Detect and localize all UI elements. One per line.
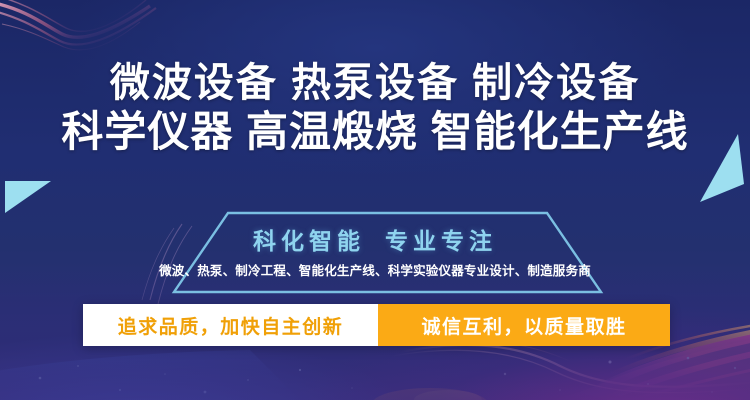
headline-block: 微波设备 热泵设备 制冷设备 科学仪器 高温煅烧 智能化生产线 — [0, 62, 750, 155]
midband-slogan-right: 专业专注 — [385, 228, 497, 254]
slogan-bar-left: 追求品质，加快自主创新 — [83, 304, 378, 346]
slogan-bar-right: 诚信互利，以质量取胜 — [378, 304, 670, 346]
headline-line-2: 科学仪器 高温煅烧 智能化生产线 — [0, 110, 750, 155]
slogan-bar-group: 追求品质，加快自主创新 诚信互利，以质量取胜 — [83, 304, 670, 346]
midband-subtitle: 微波、热泵、制冷工程、智能化生产线、科学实验仪器专业设计、制造服务商 — [0, 260, 750, 279]
midband-slogan: 科化智能专业专注 — [0, 222, 750, 256]
promotional-banner: 微波设备 热泵设备 制冷设备 科学仪器 高温煅烧 智能化生产线 科化智能专业专注… — [0, 0, 750, 400]
headline-line-1: 微波设备 热泵设备 制冷设备 — [0, 62, 750, 104]
midband-slogan-left: 科化智能 — [253, 228, 365, 254]
midband: 科化智能专业专注 微波、热泵、制冷工程、智能化生产线、科学实验仪器专业设计、制造… — [0, 206, 750, 298]
